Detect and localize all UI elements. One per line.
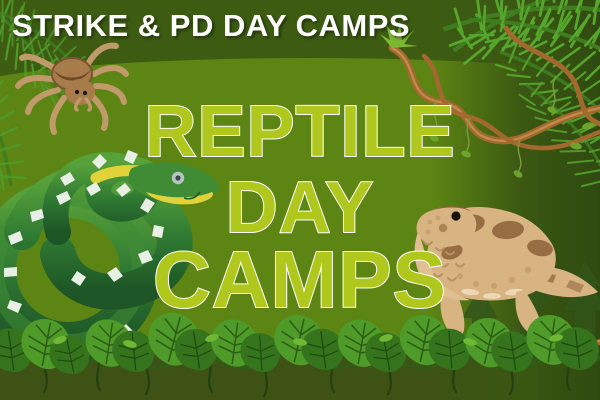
headline-line-camps: CAMPS <box>0 240 600 320</box>
headline-line-reptile: REPTILE <box>0 96 600 168</box>
kicker-title: STRIKE & PD DAY CAMPS <box>12 8 410 44</box>
headline-line-day: DAY <box>0 172 600 244</box>
reptile-day-camps-poster: STRIKE & PD DAY CAMPS REPTILE DAY CAMPS <box>0 0 600 400</box>
